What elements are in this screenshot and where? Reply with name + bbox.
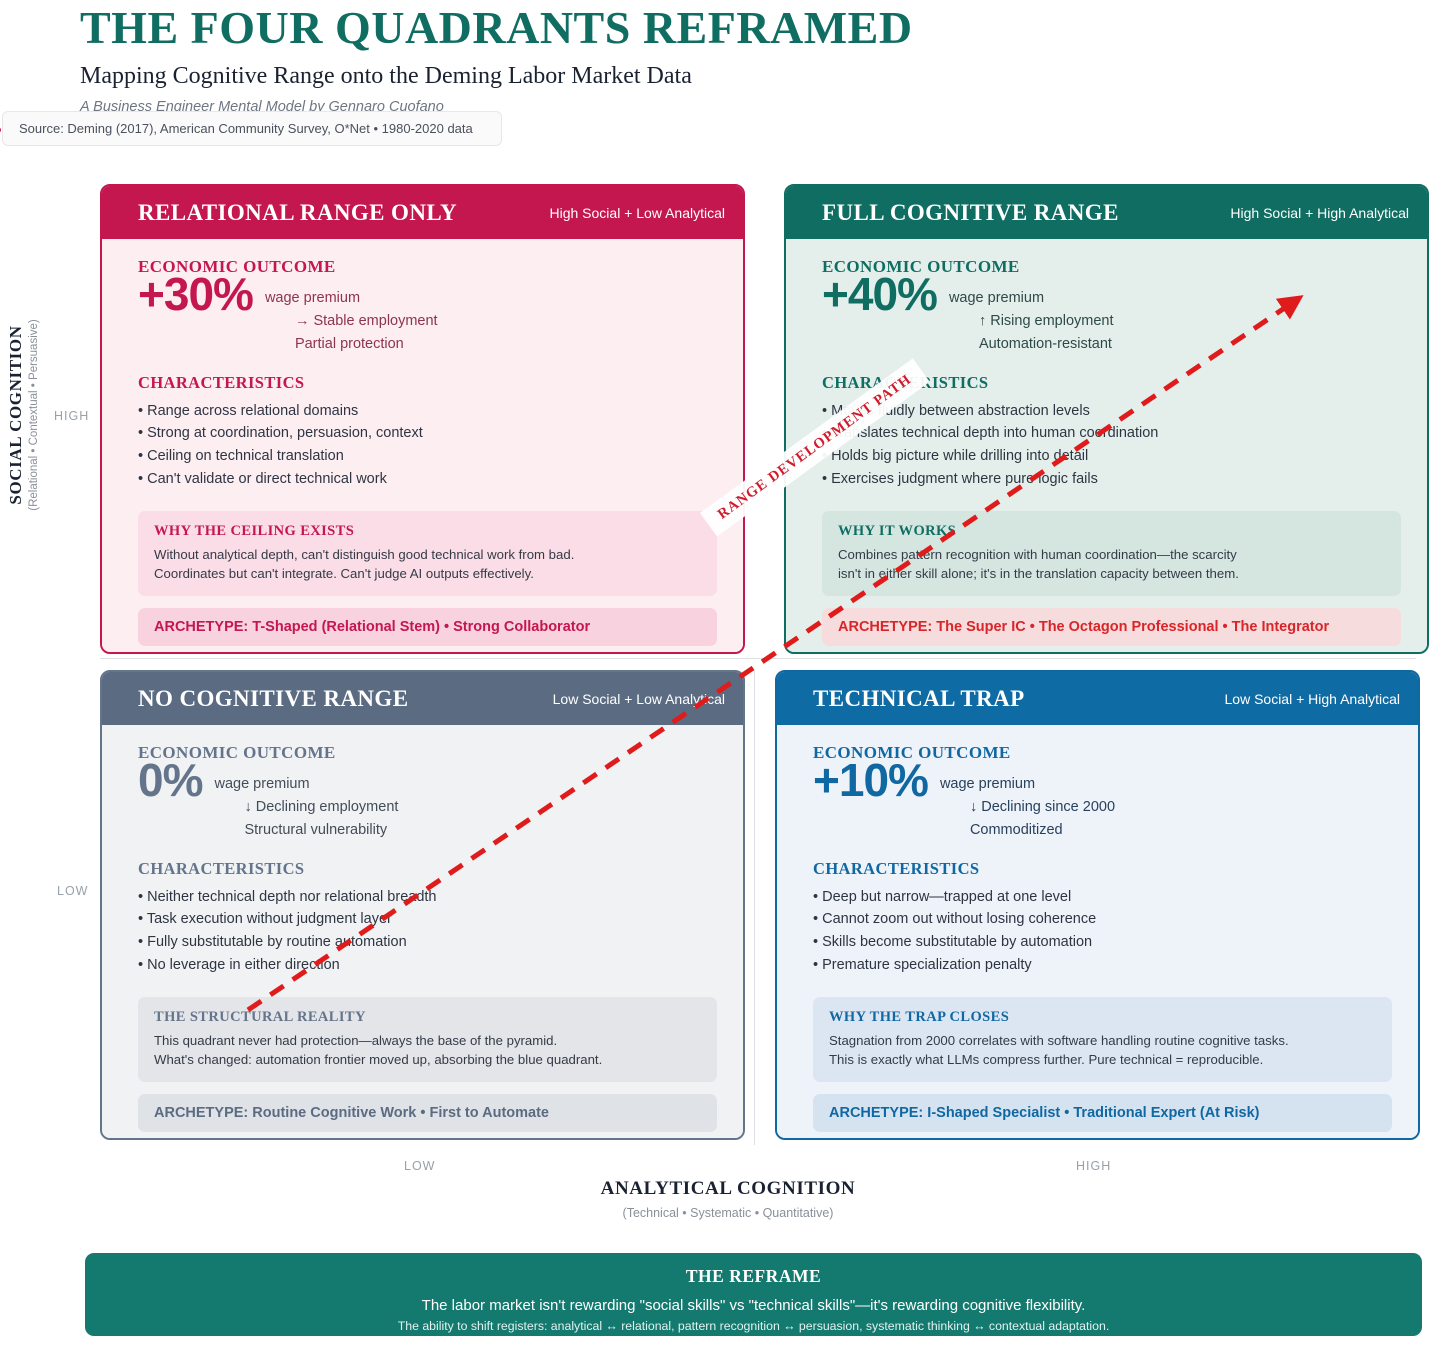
wage-premium-value: +30% xyxy=(138,271,253,317)
explanation-box: WHY THE TRAP CLOSES Stagnation from 2000… xyxy=(813,997,1392,1083)
employment-trend: ↓ Declining employment xyxy=(244,796,398,819)
page-header: THE FOUR QUADRANTS REFRAMED Mapping Cogn… xyxy=(80,2,1400,115)
quadrant-body: ECONOMIC OUTCOME 0% wage premium ↓ Decli… xyxy=(102,725,743,1140)
y-axis-title: SOCIAL COGNITION xyxy=(6,290,26,540)
economic-outcome-details: wage premium → Stable employment Partial… xyxy=(265,287,438,357)
employment-trend: ↑ Rising employment xyxy=(979,310,1114,333)
quadrant-body: ECONOMIC OUTCOME +10% wage premium ↓ Dec… xyxy=(777,725,1418,1140)
economic-outcome-row: +30% wage premium → Stable employment Pa… xyxy=(138,271,717,357)
explanation-title: WHY THE TRAP CLOSES xyxy=(829,1009,1376,1026)
explanation-title: WHY THE CEILING EXISTS xyxy=(154,523,701,540)
economic-outcome-row: +40% wage premium ↑ Rising employment Au… xyxy=(822,271,1401,357)
y-axis-label: SOCIAL COGNITION (Relational • Contextua… xyxy=(6,290,40,540)
list-item: • Strong at coordination, persuasion, co… xyxy=(138,422,717,445)
characteristics-heading: CHARACTERISTICS xyxy=(138,859,717,879)
characteristics-list: • Deep but narrow—trapped at one level •… xyxy=(813,886,1392,977)
quadrant-title: RELATIONAL RANGE ONLY xyxy=(138,200,457,226)
list-item: • Exercises judgment where pure logic fa… xyxy=(822,468,1401,491)
economic-outcome-row: +10% wage premium ↓ Declining since 2000… xyxy=(813,757,1392,843)
explanation-box: WHY THE CEILING EXISTS Without analytica… xyxy=(138,511,717,597)
explanation-line-2: This is exactly what LLMs compress furth… xyxy=(829,1050,1376,1070)
explanation-title: WHY IT WORKS xyxy=(838,523,1385,540)
page-title: THE FOUR QUADRANTS REFRAMED xyxy=(80,2,1400,54)
x-axis-tick-low: LOW xyxy=(404,1159,435,1173)
quadrant-full-cognitive-range[interactable]: FULL COGNITIVE RANGE High Social + High … xyxy=(784,184,1429,654)
economic-outcome-details: wage premium ↑ Rising employment Automat… xyxy=(949,287,1114,357)
quadrant-body: ECONOMIC OUTCOME +40% wage premium ↑ Ris… xyxy=(786,239,1427,654)
list-item: • Skills become substitutable by automat… xyxy=(813,931,1392,954)
wage-premium-unit: wage premium xyxy=(265,287,438,310)
characteristics-list: • Moves fluidly between abstraction leve… xyxy=(822,400,1401,491)
x-axis-subtitle: (Technical • Systematic • Quantitative) xyxy=(0,1206,1456,1220)
wage-premium-value: 0% xyxy=(138,757,202,803)
y-axis-subtitle: (Relational • Contextual • Persuasive) xyxy=(28,290,40,540)
explanation-line-2: isn't in either skill alone; it's in the… xyxy=(838,564,1385,584)
wage-premium-value: +40% xyxy=(822,271,937,317)
economic-outcome-row: 0% wage premium ↓ Declining employment S… xyxy=(138,757,717,843)
list-item: • Holds big picture while drilling into … xyxy=(822,445,1401,468)
employment-trend: ↓ Declining since 2000 xyxy=(970,796,1115,819)
quadrant-badge: High Social + High Analytical xyxy=(1230,205,1409,221)
quadrant-header: NO COGNITIVE RANGE Low Social + Low Anal… xyxy=(102,672,743,725)
quadrant-no-cognitive-range[interactable]: NO COGNITIVE RANGE Low Social + Low Anal… xyxy=(100,670,745,1140)
wage-premium-unit: wage premium xyxy=(214,773,398,796)
page-subtitle: Mapping Cognitive Range onto the Deming … xyxy=(80,62,1400,91)
horizontal-divider xyxy=(100,658,1416,659)
quadrant-relational-range-only[interactable]: RELATIONAL RANGE ONLY High Social + Low … xyxy=(100,184,745,654)
economic-outcome-details: wage premium ↓ Declining since 2000 Comm… xyxy=(940,773,1115,843)
quadrant-title: NO COGNITIVE RANGE xyxy=(138,686,408,712)
list-item: • Premature specialization penalty xyxy=(813,954,1392,977)
protection-status: Automation-resistant xyxy=(979,333,1114,356)
list-item: • Fully substitutable by routine automat… xyxy=(138,931,717,954)
list-item: • Range across relational domains xyxy=(138,400,717,423)
characteristics-heading: CHARACTERISTICS xyxy=(813,859,1392,879)
quadrant-body: ECONOMIC OUTCOME +30% wage premium → Sta… xyxy=(102,239,743,654)
explanation-line-1: Without analytical depth, can't distingu… xyxy=(154,545,701,565)
characteristics-list: • Range across relational domains • Stro… xyxy=(138,400,717,491)
reframe-line-2: The ability to shift registers: analytic… xyxy=(105,1319,1402,1333)
explanation-line-2: Coordinates but can't integrate. Can't j… xyxy=(154,564,701,584)
archetype-badge: ARCHETYPE: Routine Cognitive Work • Firs… xyxy=(138,1094,717,1132)
source-bullet-icon xyxy=(0,127,1,133)
quadrant-badge: Low Social + High Analytical xyxy=(1225,691,1401,707)
quadrant-technical-trap[interactable]: TECHNICAL TRAP Low Social + High Analyti… xyxy=(775,670,1420,1140)
list-item: • Task execution without judgment layer xyxy=(138,908,717,931)
quadrant-header: RELATIONAL RANGE ONLY High Social + Low … xyxy=(102,186,743,239)
quadrant-badge: Low Social + Low Analytical xyxy=(553,691,725,707)
archetype-badge: ARCHETYPE: I-Shaped Specialist • Traditi… xyxy=(813,1094,1392,1132)
explanation-line-1: Combines pattern recognition with human … xyxy=(838,545,1385,565)
quadrant-title: FULL COGNITIVE RANGE xyxy=(822,200,1119,226)
list-item: • Moves fluidly between abstraction leve… xyxy=(822,400,1401,423)
explanation-line-1: Stagnation from 2000 correlates with sof… xyxy=(829,1031,1376,1051)
list-item: • Deep but narrow—trapped at one level xyxy=(813,886,1392,909)
list-item: • Translates technical depth into human … xyxy=(822,422,1401,445)
quadrant-header: FULL COGNITIVE RANGE High Social + High … xyxy=(786,186,1427,239)
source-note: Source: Deming (2017), American Communit… xyxy=(2,111,502,146)
explanation-title: THE STRUCTURAL REALITY xyxy=(154,1009,701,1026)
x-axis-title: ANALYTICAL COGNITION xyxy=(0,1178,1456,1200)
economic-outcome-details: wage premium ↓ Declining employment Stru… xyxy=(214,773,398,843)
list-item: • Neither technical depth nor relational… xyxy=(138,886,717,909)
list-item: • Can't validate or direct technical wor… xyxy=(138,468,717,491)
explanation-box: WHY IT WORKS Combines pattern recognitio… xyxy=(822,511,1401,597)
quadrant-header: TECHNICAL TRAP Low Social + High Analyti… xyxy=(777,672,1418,725)
quadrant-title: TECHNICAL TRAP xyxy=(813,686,1025,712)
list-item: • No leverage in either direction xyxy=(138,954,717,977)
vertical-divider xyxy=(754,670,755,1145)
quadrant-badge: High Social + Low Analytical xyxy=(550,205,726,221)
protection-status: Structural vulnerability xyxy=(244,819,398,842)
reframe-banner: THE REFRAME The labor market isn't rewar… xyxy=(85,1253,1422,1336)
archetype-badge: ARCHETYPE: The Super IC • The Octagon Pr… xyxy=(822,608,1401,646)
explanation-box: THE STRUCTURAL REALITY This quadrant nev… xyxy=(138,997,717,1083)
reframe-title: THE REFRAME xyxy=(105,1266,1402,1287)
wage-premium-value: +10% xyxy=(813,757,928,803)
protection-status: Partial protection xyxy=(295,333,438,356)
characteristics-heading: CHARACTERISTICS xyxy=(138,373,717,393)
list-item: • Cannot zoom out without losing coheren… xyxy=(813,908,1392,931)
y-axis-tick-high: HIGH xyxy=(54,409,89,423)
explanation-line-1: This quadrant never had protection—alway… xyxy=(154,1031,701,1051)
reframe-line-1: The labor market isn't rewarding "social… xyxy=(105,1297,1402,1314)
wage-premium-unit: wage premium xyxy=(940,773,1115,796)
characteristics-list: • Neither technical depth nor relational… xyxy=(138,886,717,977)
employment-trend: → Stable employment xyxy=(295,310,438,333)
list-item: • Ceiling on technical translation xyxy=(138,445,717,468)
x-axis-tick-high: HIGH xyxy=(1076,1159,1111,1173)
archetype-badge: ARCHETYPE: T-Shaped (Relational Stem) • … xyxy=(138,608,717,646)
wage-premium-unit: wage premium xyxy=(949,287,1114,310)
y-axis-tick-low: LOW xyxy=(57,884,88,898)
protection-status: Commoditized xyxy=(970,819,1115,842)
explanation-line-2: What's changed: automation frontier move… xyxy=(154,1050,701,1070)
